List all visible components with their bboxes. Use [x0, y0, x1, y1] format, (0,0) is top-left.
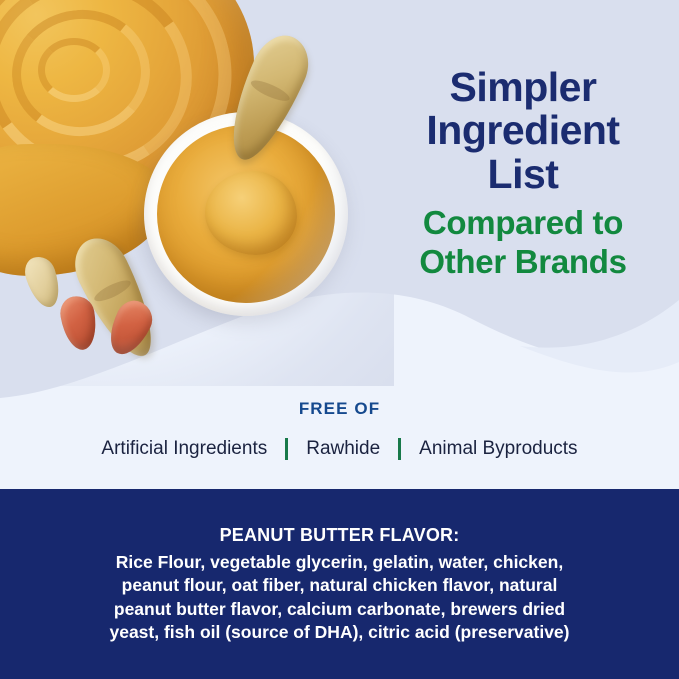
headline-line-1: Simpler [382, 66, 664, 109]
free-of-list: Artificial Ingredients Rawhide Animal By… [0, 438, 679, 460]
free-of-item-rawhide: Rawhide [288, 438, 398, 460]
headline-line-3: List [382, 153, 664, 196]
free-of-title: FREE OF [0, 399, 679, 419]
ingredients-line-4: yeast, fish oil (source of DHA), citric … [72, 621, 607, 644]
subheadline-line-2: Other Brands [382, 243, 664, 282]
ingredients-band: PEANUT BUTTER FLAVOR: Rice Flour, vegeta… [0, 489, 679, 679]
ingredients-line-3: peanut butter flavor, calcium carbonate,… [72, 598, 607, 621]
headline-block: Simpler Ingredient List Compared to Othe… [382, 66, 664, 282]
photo-edge-fade [0, 0, 394, 386]
ingredients-flavor-title: PEANUT BUTTER FLAVOR: [0, 525, 679, 546]
ingredients-line-2: peanut flour, oat fiber, natural chicken… [72, 574, 607, 597]
free-of-item-artificial-ingredients: Artificial Ingredients [83, 438, 285, 460]
subheadline-block: Compared to Other Brands [382, 204, 664, 282]
product-infographic-poster: Simpler Ingredient List Compared to Othe… [0, 0, 679, 679]
ingredients-line-1: Rice Flour, vegetable glycerin, gelatin,… [72, 551, 607, 574]
ingredients-text: Rice Flour, vegetable glycerin, gelatin,… [72, 551, 607, 644]
headline-line-2: Ingredient [382, 109, 664, 152]
subheadline-line-1: Compared to [382, 204, 664, 243]
free-of-item-animal-byproducts: Animal Byproducts [401, 438, 595, 460]
peanut-butter-photo [0, 0, 394, 386]
